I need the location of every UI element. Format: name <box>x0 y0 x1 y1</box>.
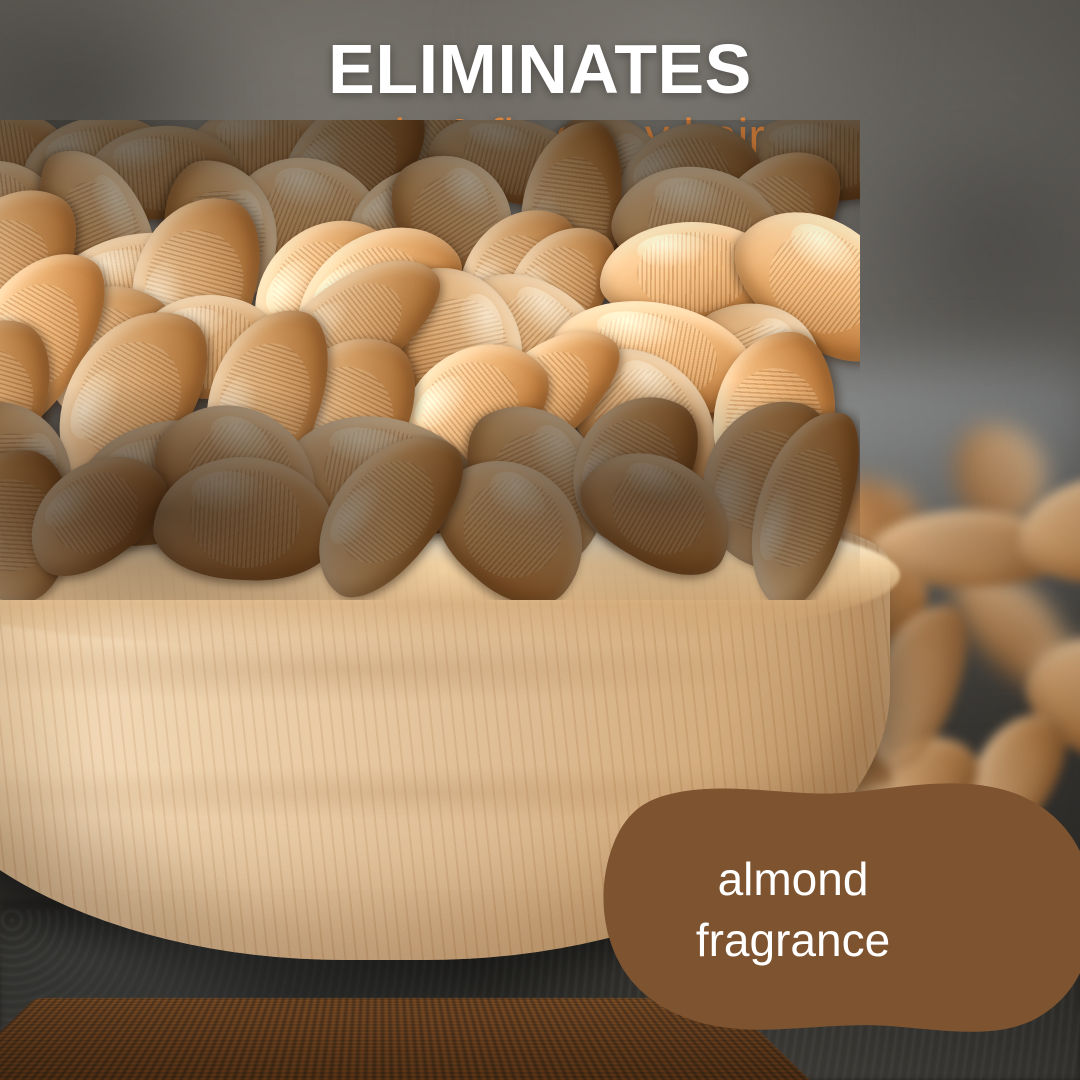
badge-line-2: fragrance <box>696 910 890 971</box>
almond-pile <box>0 120 860 600</box>
badge-line-1: almond <box>718 849 869 910</box>
promo-graphic: ELIMINATES static & fly-away hair almond… <box>0 0 1080 1080</box>
badge-text-block: almond fragrance <box>597 782 1080 1037</box>
fragrance-badge: almond fragrance <box>597 782 1080 1037</box>
